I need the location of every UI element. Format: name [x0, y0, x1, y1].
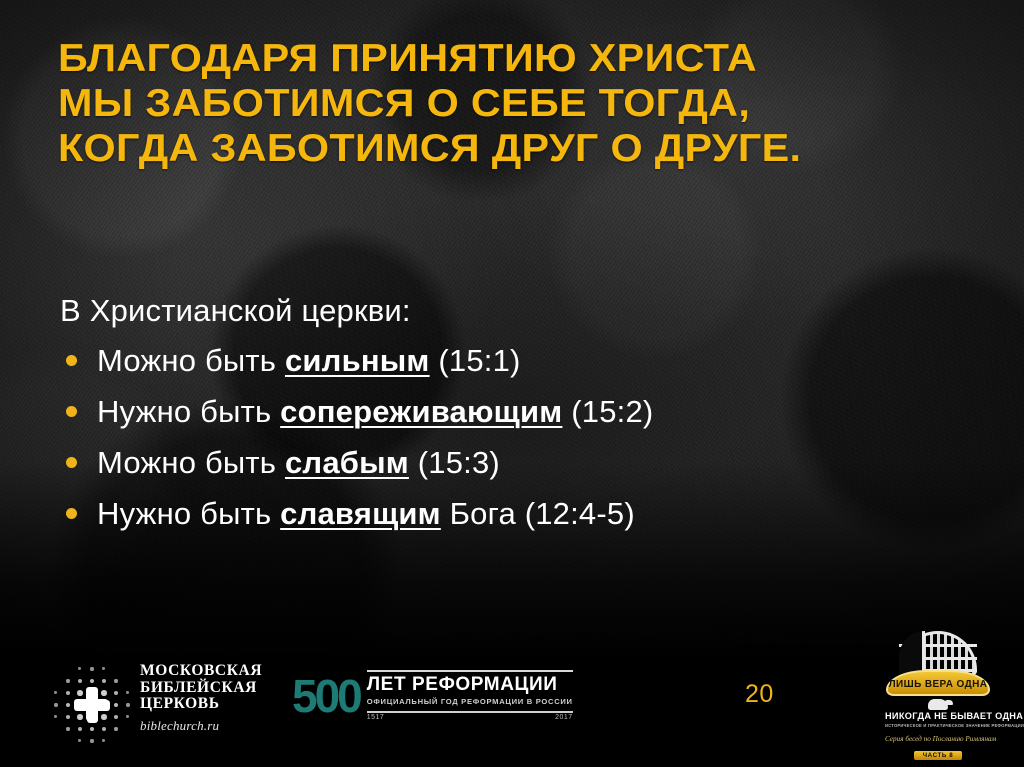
sola-part-badge: ЧАСТЬ 8 — [914, 751, 963, 760]
list-item-suffix: (15:2) — [562, 394, 653, 429]
sola-fide-series-logo: ЛИШЬ ВЕРА ОДНА НИКОГДА НЕ БЫВАЕТ ОДНА ИС… — [885, 629, 991, 751]
title-line-2: МЫ ЗАБОТИМСЯ О СЕБЕ ТОГДА, — [58, 81, 1023, 126]
colosseum-icon — [892, 629, 984, 675]
moscow-bible-church-logo: МОСКОВСКАЯ БИБЛЕЙСКАЯ ЦЕРКОВЬ biblechurc… — [44, 657, 262, 741]
list-item-prefix: Можно быть — [97, 343, 285, 378]
sola-series-script: Серия бесед по Посланию Римлянам — [885, 734, 991, 744]
slide-body: В Христианской церкви: Можно быть сильны… — [60, 292, 960, 546]
reformation-subline: ОФИЦИАЛЬНЫЙ ГОД РЕФОРМАЦИИ В РОССИИ — [367, 697, 573, 707]
reformation-text-block: ЛЕТ РЕФОРМАЦИИ ОФИЦИАЛЬНЫЙ ГОД РЕФОРМАЦИ… — [367, 669, 573, 723]
list-item-emphasis: славящим — [280, 496, 441, 531]
reformation-500-logo: 500 ЛЕТ РЕФОРМАЦИИ ОФИЦИАЛЬНЫЙ ГОД РЕФОР… — [292, 669, 573, 723]
presentation-slide: БЛАГОДАРЯ ПРИНЯТИЮ ХРИСТА МЫ ЗАБОТИМСЯ О… — [0, 0, 1024, 767]
reformation-headline: ЛЕТ РЕФОРМАЦИИ — [367, 675, 573, 695]
church-name-line-1: МОСКОВСКАЯ — [140, 663, 262, 680]
title-line-3: КОГДА ЗАБОТИМСЯ ДРУГ О ДРУГЕ. — [58, 126, 1023, 171]
list-item-emphasis: сопереживающим — [280, 394, 562, 429]
bullet-dot-icon — [66, 457, 77, 468]
list-item-text: Можно быть сильным (15:1) — [97, 342, 521, 380]
page-number: 20 — [745, 680, 774, 709]
timeline-bar — [367, 711, 573, 713]
church-name-line-2: БИБЛЕЙСКАЯ — [140, 680, 262, 697]
sola-headline: НИКОГДА НЕ БЫВАЕТ ОДНА — [885, 711, 991, 722]
reformation-number: 500 — [292, 676, 360, 716]
list-item-text: Нужно быть сопереживающим (15:2) — [97, 393, 653, 431]
title-line-1: БЛАГОДАРЯ ПРИНЯТИЮ ХРИСТА — [58, 36, 1023, 81]
list-item: Нужно быть сопереживающим (15:2) — [60, 393, 960, 431]
list-item-suffix: (15:3) — [409, 445, 500, 480]
dotted-cross-icon — [44, 657, 128, 741]
reformation-timeline: 1517 2017 — [367, 711, 573, 723]
church-website-url: biblechurch.ru — [140, 718, 262, 733]
arc-banner-text: ЛИШЬ ВЕРА ОДНА — [886, 670, 990, 696]
list-item-prefix: Можно быть — [97, 445, 285, 480]
capitoline-wolf-icon — [928, 699, 948, 710]
list-item-text: Можно быть слабым (15:3) — [97, 444, 500, 482]
timeline-year-start: 1517 — [367, 714, 385, 721]
list-item-emphasis: сильным — [285, 343, 430, 378]
reformation-rule-top — [367, 670, 573, 672]
sola-arc-banner: ЛИШЬ ВЕРА ОДНА — [886, 670, 990, 696]
list-item-prefix: Нужно быть — [97, 496, 280, 531]
list-item: Нужно быть славящим Бога (12:4-5) — [60, 495, 960, 533]
bullet-dot-icon — [66, 508, 77, 519]
list-item-text: Нужно быть славящим Бога (12:4-5) — [97, 495, 635, 533]
list-item: Можно быть сильным (15:1) — [60, 342, 960, 380]
slide-footer: МОСКОВСКАЯ БИБЛЕЙСКАЯ ЦЕРКОВЬ biblechurc… — [0, 617, 1024, 767]
list-item-suffix: (15:1) — [430, 343, 521, 378]
church-logo-text: МОСКОВСКАЯ БИБЛЕЙСКАЯ ЦЕРКОВЬ biblechurc… — [140, 663, 262, 735]
colosseum-ruin-edge — [899, 631, 925, 675]
list-item: Можно быть слабым (15:3) — [60, 444, 960, 482]
list-item-suffix: Бога (12:4-5) — [441, 496, 635, 531]
sola-subline: ИСТОРИЧЕСКОЕ И ПРАКТИЧЕСКОЕ ЗНАЧЕНИЕ РЕФ… — [885, 723, 991, 729]
list-item-prefix: Нужно быть — [97, 394, 280, 429]
timeline-year-end: 2017 — [555, 714, 573, 721]
bullet-dot-icon — [66, 406, 77, 417]
body-intro-text: В Христианской церкви: — [60, 292, 960, 330]
slide-title: БЛАГОДАРЯ ПРИНЯТИЮ ХРИСТА МЫ ЗАБОТИМСЯ О… — [58, 36, 968, 171]
list-item-emphasis: слабым — [285, 445, 409, 480]
church-name-line-3: ЦЕРКОВЬ — [140, 696, 262, 713]
bullet-dot-icon — [66, 355, 77, 366]
